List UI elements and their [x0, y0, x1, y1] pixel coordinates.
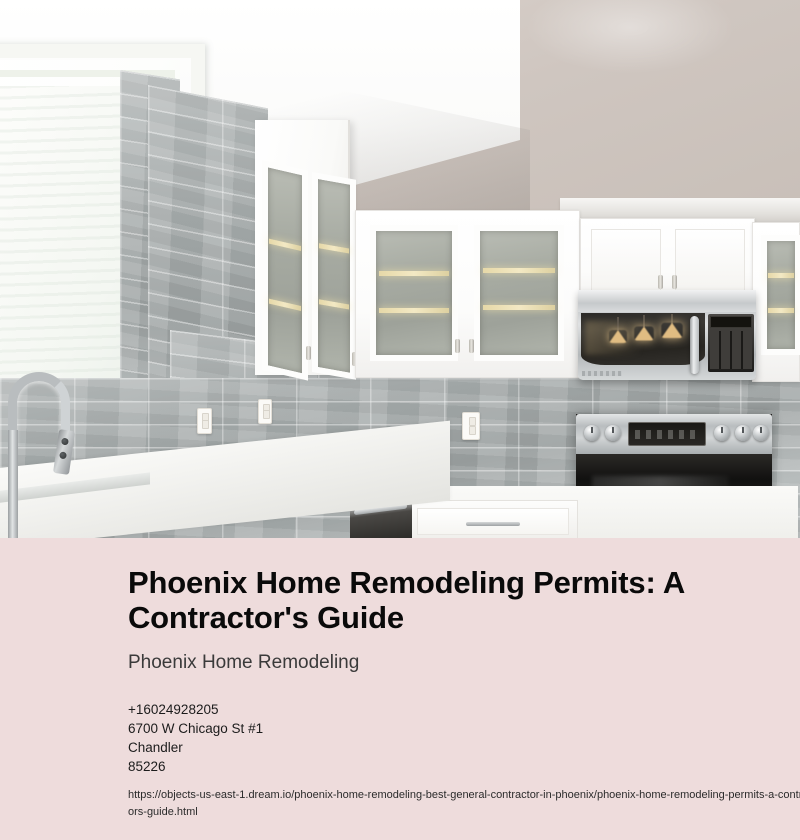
- cabinet-door-panel: [675, 229, 745, 291]
- contact-postal-code: 85226: [128, 757, 800, 776]
- contact-block: +16024928205 6700 W Chicago St #1 Chandl…: [128, 700, 800, 776]
- page-root: Phoenix Home Remodeling Permits: A Contr…: [0, 0, 800, 840]
- cabinet-knob-icon: [658, 275, 663, 289]
- page-title: Phoenix Home Remodeling Permits: A Contr…: [128, 566, 703, 635]
- electrical-outlet-icon: [197, 408, 212, 434]
- cabinet-knob-icon: [672, 275, 677, 289]
- microwave-display: [710, 316, 752, 328]
- cabinet-knob-icon: [455, 339, 460, 353]
- pendant-light-reflection: [661, 323, 683, 339]
- glass-cabinet-door: [312, 172, 356, 380]
- faucet-button-icon: [61, 438, 69, 446]
- microwave-top-trim: [578, 290, 756, 312]
- cabinet-run-middle: [355, 210, 580, 378]
- range-display: [628, 422, 706, 446]
- info-panel: Phoenix Home Remodeling Permits: A Contr…: [0, 538, 800, 840]
- faucet-stem: [8, 430, 18, 538]
- electrical-outlet-icon: [258, 399, 272, 424]
- hero-kitchen-photo: [0, 0, 800, 538]
- glass-cabinet-door: [370, 225, 458, 361]
- business-name: Phoenix Home Remodeling: [128, 652, 800, 674]
- page-url[interactable]: https://objects-us-east-1.dream.io/phoen…: [128, 787, 800, 821]
- base-cabinet: [408, 500, 578, 538]
- glass-cabinet-door: [262, 160, 308, 381]
- contact-phone[interactable]: +16024928205: [128, 700, 800, 719]
- cabinet-door-panel: [591, 229, 661, 291]
- range-knob-icon[interactable]: [735, 425, 751, 441]
- glass-cabinet-door: [474, 225, 564, 361]
- faucet-button-icon: [59, 451, 67, 459]
- drawer-bar-pull[interactable]: [466, 522, 520, 526]
- glass-cabinet-door: [761, 235, 800, 355]
- range-knob-icon[interactable]: [584, 425, 600, 441]
- contact-city: Chandler: [128, 738, 800, 757]
- microwave-handle[interactable]: [690, 316, 699, 374]
- range-control-panel[interactable]: [576, 414, 772, 454]
- microwave-keypad[interactable]: [710, 331, 752, 369]
- electrical-outlet-icon: [462, 412, 480, 440]
- pendant-light-reflection: [609, 330, 627, 343]
- range-knob-icon[interactable]: [753, 425, 769, 441]
- range-knob-icon[interactable]: [605, 425, 621, 441]
- pendant-light-reflection: [634, 326, 654, 340]
- microwave-vent-grille: [582, 371, 622, 376]
- stainless-microwave: [578, 290, 756, 380]
- cabinet-knob-icon: [469, 339, 474, 353]
- microwave-door-glass: [581, 313, 705, 365]
- contact-street: 6700 W Chicago St #1: [128, 719, 800, 738]
- base-cabinet-drawer[interactable]: [417, 508, 569, 535]
- range-knob-icon[interactable]: [714, 425, 730, 441]
- cabinet-run-far-right: [752, 222, 800, 382]
- cabinet-knob-icon: [306, 346, 311, 360]
